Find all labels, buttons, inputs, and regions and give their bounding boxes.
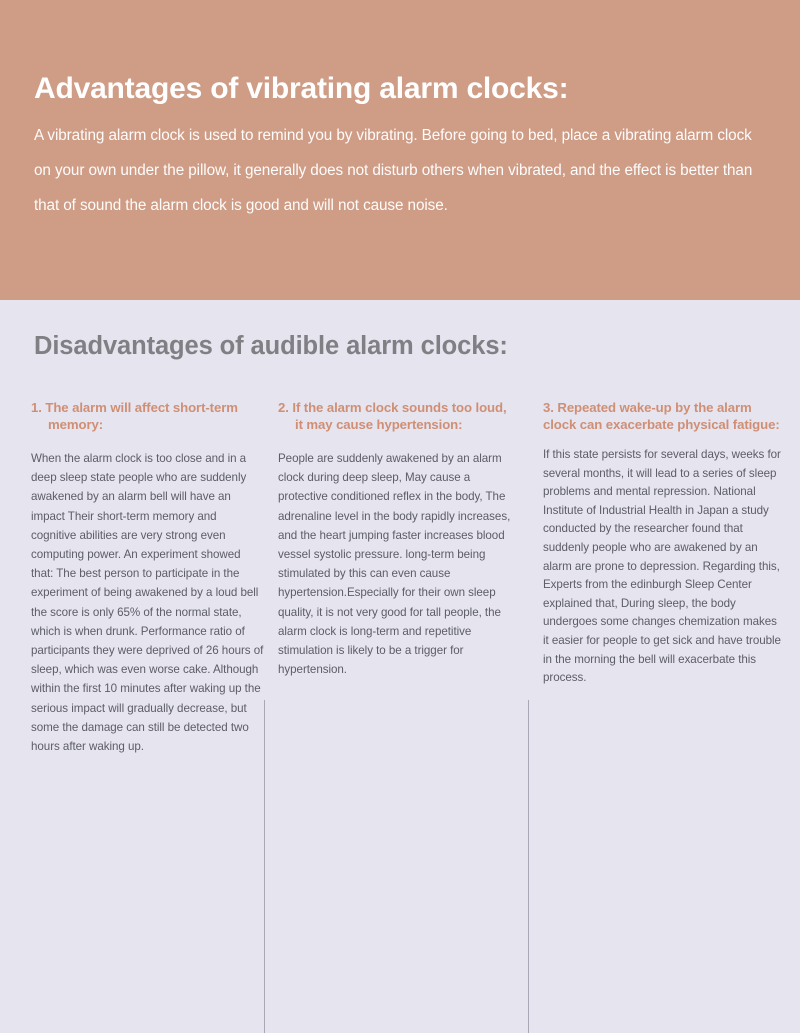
disadvantage-2-heading: 2. If the alarm clock sounds too loud, i… — [278, 400, 511, 433]
disadvantage-column-1: 1. The alarm will affect short-term memo… — [31, 400, 264, 756]
disadvantage-column-2: 2. If the alarm clock sounds too loud, i… — [278, 400, 511, 679]
disadvantages-columns: 1. The alarm will affect short-term memo… — [0, 400, 800, 800]
disadvantage-2-body-text: People are suddenly awakened by an alarm… — [278, 449, 511, 679]
advantages-body-text: A vibrating alarm clock is used to remin… — [34, 118, 769, 223]
infographic-page: Advantages of vibrating alarm clocks: A … — [0, 0, 800, 800]
disadvantage-3-body-text: If this state persists for several days,… — [543, 446, 781, 688]
disadvantage-1-heading-text: The alarm will affect short-term memory: — [45, 400, 237, 432]
disadvantage-1-body-text: When the alarm clock is too close and in… — [31, 449, 264, 756]
disadvantage-1-heading: 1. The alarm will affect short-term memo… — [31, 400, 264, 433]
disadvantage-column-3: 3. Repeated wake-up by the alarm clock c… — [543, 400, 781, 688]
advantages-heading: Advantages of vibrating alarm clocks: — [34, 72, 568, 106]
disadvantage-3-heading: 3. Repeated wake-up by the alarm clock c… — [543, 400, 781, 433]
disadvantage-2-heading-text: If the alarm clock sounds too loud, it m… — [292, 400, 506, 432]
disadvantages-heading: Disadvantages of audible alarm clocks: — [34, 332, 508, 361]
disadvantage-1-number: 1. — [31, 400, 42, 415]
advantages-section: Advantages of vibrating alarm clocks: A … — [0, 0, 800, 300]
disadvantages-section: Disadvantages of audible alarm clocks: 1… — [0, 300, 800, 800]
disadvantage-3-number: 3. — [543, 400, 554, 415]
column-divider-1 — [264, 700, 265, 1033]
disadvantage-3-heading-text: Repeated wake-up by the alarm clock can … — [543, 400, 780, 432]
column-divider-2 — [528, 700, 529, 1033]
disadvantage-2-number: 2. — [278, 400, 289, 415]
